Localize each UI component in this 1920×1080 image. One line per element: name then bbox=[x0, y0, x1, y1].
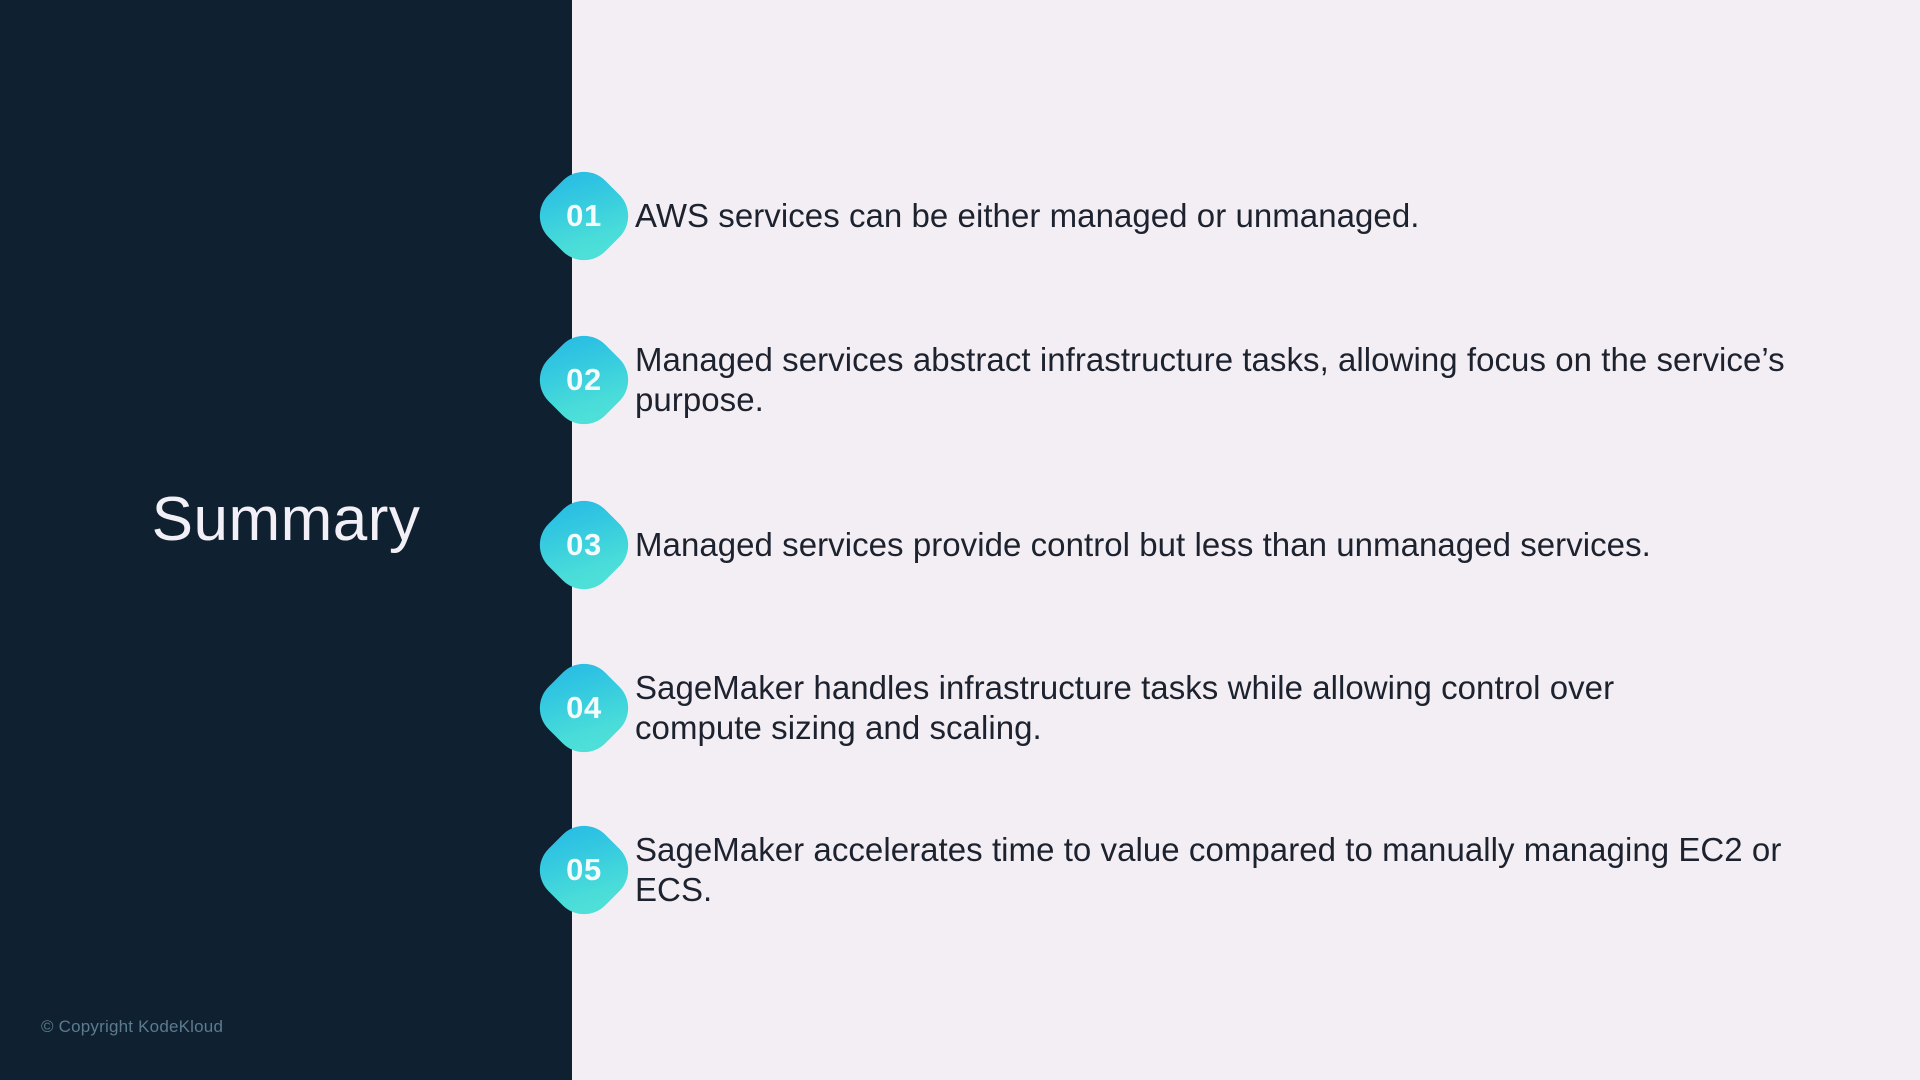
step-badge-01: 01 bbox=[532, 164, 636, 268]
step-number-02: 02 bbox=[532, 328, 637, 432]
step-number-03: 03 bbox=[532, 493, 637, 597]
step-badge-03: 03 bbox=[532, 493, 636, 597]
copyright-footer: © Copyright KodeKloud bbox=[41, 1017, 223, 1037]
step-number-01: 01 bbox=[532, 164, 637, 268]
summary-item-text-03: Managed services provide control but les… bbox=[635, 525, 1835, 565]
step-number-04: 04 bbox=[532, 656, 637, 760]
summary-item-text-05: SageMaker accelerates time to value comp… bbox=[635, 830, 1840, 910]
summary-slide: Summary 01 AWS services can be either ma… bbox=[0, 0, 1920, 1080]
summary-item-text-04: SageMaker handles infrastructure tasks w… bbox=[635, 668, 1725, 748]
summary-item-text-02: Managed services abstract infrastructure… bbox=[635, 340, 1830, 420]
summary-item-text-01: AWS services can be either managed or un… bbox=[635, 196, 1835, 236]
step-badge-04: 04 bbox=[532, 656, 636, 760]
step-badge-02: 02 bbox=[532, 328, 636, 432]
step-badge-05: 05 bbox=[532, 818, 636, 922]
page-title: Summary bbox=[0, 487, 572, 552]
step-number-05: 05 bbox=[532, 818, 637, 922]
